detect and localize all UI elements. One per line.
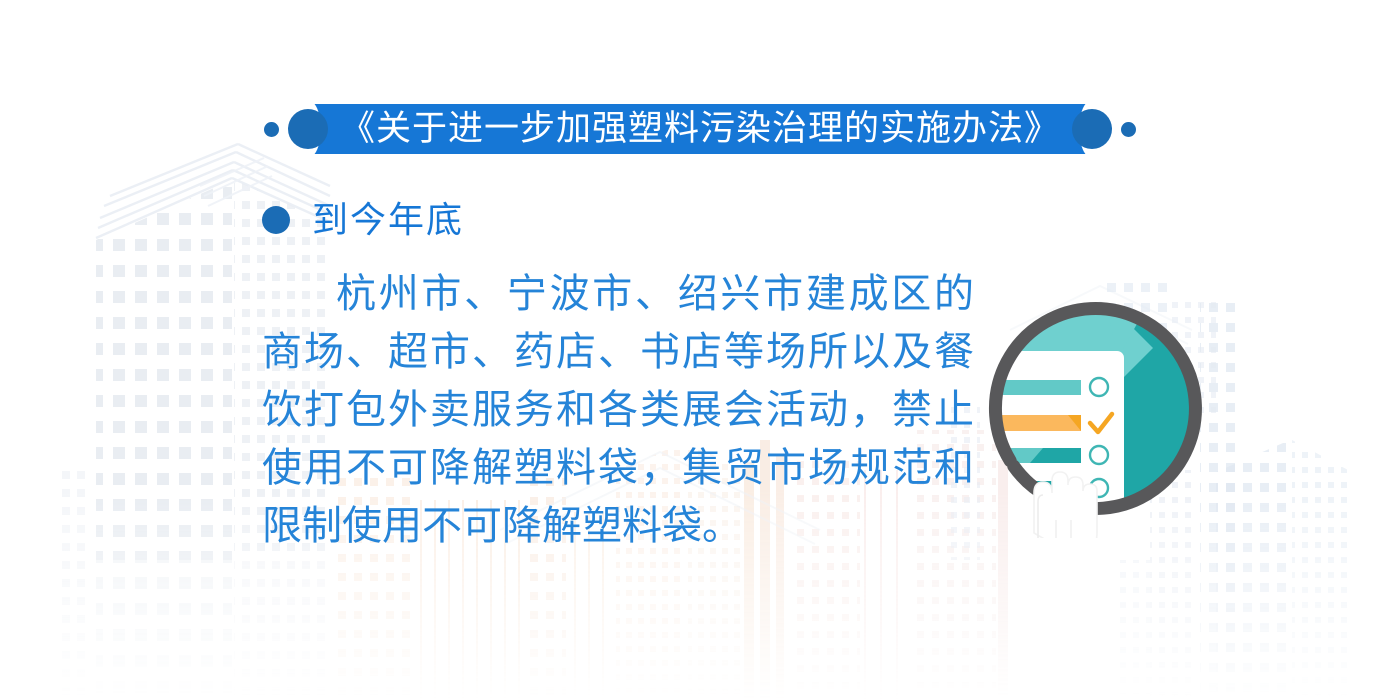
decor-dot-large-left <box>288 109 328 149</box>
title-banner: 《关于进一步加强塑料污染治理的实施办法》 <box>308 104 1092 154</box>
title-banner-row: 《关于进一步加强塑料污染治理的实施办法》 <box>0 98 1400 160</box>
section-heading-label: 到今年底 <box>312 198 464 242</box>
decor-dot-small-right <box>1121 122 1136 137</box>
section-paragraph: 杭州市、宁波市、绍兴市建成区的商场、超市、药店、书店等场所以及餐饮打包外卖服务和… <box>262 265 974 555</box>
checklist-illustration <box>968 288 1218 538</box>
decor-dot-small-left <box>264 122 279 137</box>
page-title: 《关于进一步加强塑料污染治理的实施办法》 <box>314 104 1086 154</box>
decor-dot-large-right <box>1072 109 1112 149</box>
building-left-slim <box>60 470 92 700</box>
poster-canvas: 《关于进一步加强塑料污染治理的实施办法》 到今年底 杭州市、宁波市、绍兴市建成区… <box>0 0 1400 700</box>
bullet-dot-icon <box>262 206 290 234</box>
section-heading: 到今年底 <box>262 198 464 242</box>
